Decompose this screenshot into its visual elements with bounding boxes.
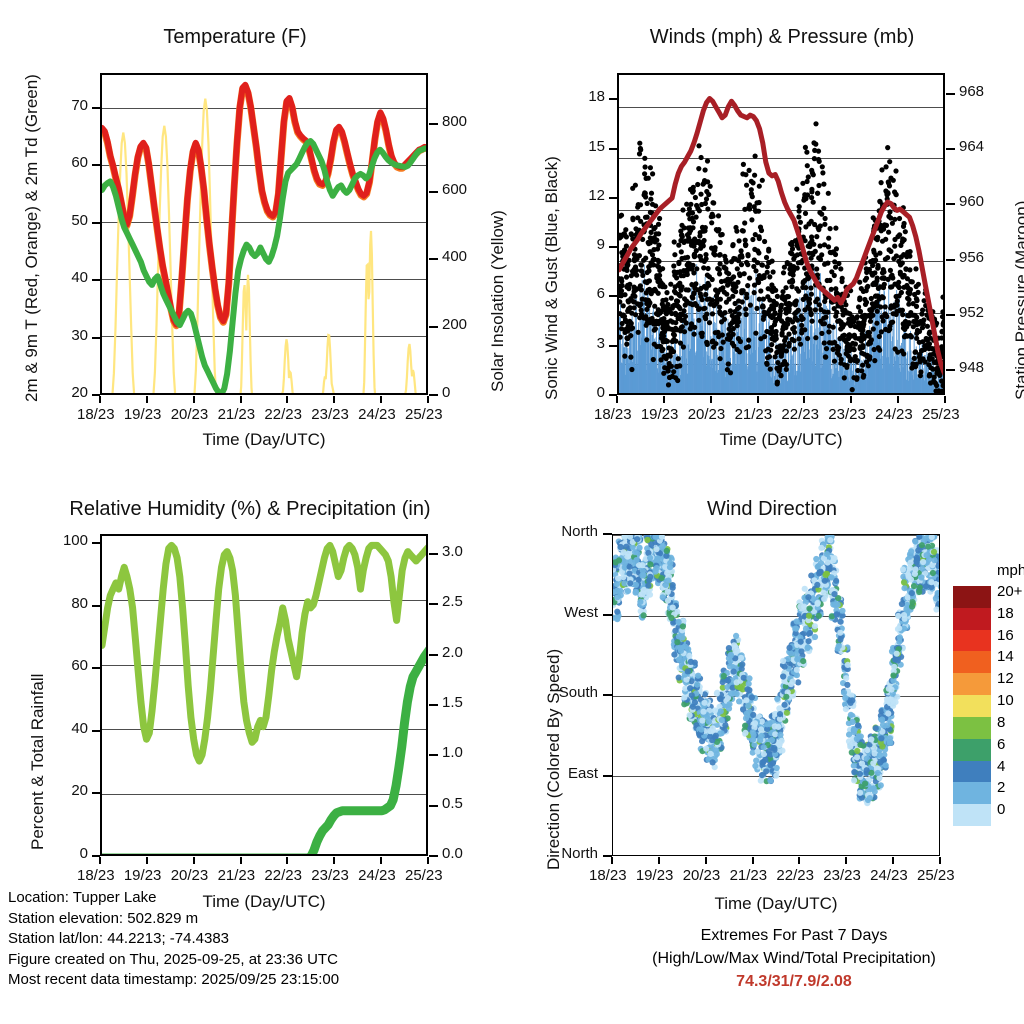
axis-tick-mark [944, 396, 946, 403]
axis-tick-mark [92, 222, 100, 224]
axis-tick-label: 19/23 [124, 406, 162, 423]
axis-tick-mark [99, 396, 101, 403]
axis-tick-mark [752, 857, 754, 864]
axis-tick-label: 20 [42, 384, 88, 401]
colorbar-tick-label: 0 [997, 801, 1005, 818]
axis-tick-label: 3.0 [442, 543, 463, 560]
axis-tick-mark [333, 857, 335, 864]
axis-tick-mark [710, 396, 712, 403]
axis-tick-label: South [552, 684, 598, 701]
axis-tick-label: North [552, 845, 598, 862]
axis-tick-label: 18/23 [77, 406, 115, 423]
axis-tick-mark [611, 857, 613, 864]
extremes-title: Extremes For Past 7 Days [594, 924, 994, 947]
axis-tick-mark [429, 805, 438, 807]
extremes-summary: Extremes For Past 7 Days (High/Low/Max W… [594, 924, 994, 993]
axis-tick-mark [380, 396, 382, 403]
axis-tick-mark [609, 98, 617, 100]
extremes-subtitle: (High/Low/Max Wind/Total Precipitation) [594, 947, 994, 970]
panel-wind-direction: Wind Direction Direction (Colored By Spe… [512, 470, 1024, 940]
panel-winds-pressure: Winds (mph) & Pressure (mb) Sonic Wind &… [512, 0, 1024, 470]
axis-tick-label: 9 [559, 236, 605, 253]
colorbar-band [953, 608, 991, 630]
axis-tick-label: 23/23 [828, 406, 866, 423]
axis-tick-mark [333, 396, 335, 403]
colorbar-unit-label: mph [997, 562, 1024, 579]
axis-tick-label: 0.5 [442, 795, 463, 812]
axis-tick-mark [427, 396, 429, 403]
axis-tick-label: 800 [442, 113, 467, 130]
axis-tick-label: 70 [42, 97, 88, 114]
wind-direction-scatter-svg [613, 535, 940, 856]
axis-tick-mark [616, 396, 618, 403]
axis-tick-mark [92, 667, 100, 669]
axis-tick-label: 18/23 [77, 867, 115, 884]
axis-tick-label: 80 [42, 595, 88, 612]
axis-tick-label: 19/23 [636, 867, 674, 884]
plot-area-wind-direction [612, 534, 940, 856]
axis-tick-label: North [552, 523, 598, 540]
axis-tick-label: 6 [559, 285, 605, 302]
axis-tick-label: 968 [959, 83, 984, 100]
axis-tick-label: 23/23 [311, 406, 349, 423]
axis-tick-label: 23/23 [823, 867, 861, 884]
axis-tick-label: 25/23 [405, 867, 443, 884]
axis-tick-label: 18/23 [594, 406, 632, 423]
axis-tick-label: 19/23 [641, 406, 679, 423]
axis-tick-mark [146, 857, 148, 864]
axis-tick-mark [609, 246, 617, 248]
axis-tick-label: 40 [42, 720, 88, 737]
axis-tick-label: 20/23 [171, 867, 209, 884]
axis-tick-mark [429, 326, 438, 328]
axis-tick-label: 21/23 [735, 406, 773, 423]
axis-tick-mark [92, 730, 100, 732]
axis-tick-label: 22/23 [776, 867, 814, 884]
axis-tick-mark [705, 857, 707, 864]
panel-title-wind-direction: Wind Direction [552, 498, 992, 521]
axis-tick-mark [92, 542, 100, 544]
footer-timestamp: Most recent data timestamp: 2025/09/25 2… [8, 970, 339, 991]
colorbar-tick-label: 20+ [997, 583, 1022, 600]
axis-tick-label: 200 [442, 316, 467, 333]
axis-tick-label: 25/23 [917, 867, 955, 884]
colorbar-band [953, 630, 991, 652]
colorbar-band [953, 717, 991, 739]
axis-tick-label: 20/23 [688, 406, 726, 423]
axis-tick-mark [603, 694, 612, 696]
axis-tick-label: 20/23 [683, 867, 721, 884]
axis-tick-mark [240, 396, 242, 403]
axis-tick-label: 960 [959, 193, 984, 210]
axis-tick-mark [798, 857, 800, 864]
axis-tick-mark [429, 704, 438, 706]
axis-label-percent-rainfall: Percent & Total Rainfall [28, 674, 48, 850]
axis-tick-label: 22/23 [264, 406, 302, 423]
winds-series-svg [619, 75, 945, 395]
humidity-series-svg [102, 536, 428, 856]
axis-tick-mark [946, 259, 955, 261]
temperature-series-svg [102, 75, 428, 395]
axis-tick-label: 60 [42, 657, 88, 674]
axis-tick-mark [429, 394, 438, 396]
panel-title-temperature: Temperature (F) [0, 26, 470, 49]
footer-location: Location: Tupper Lake [8, 888, 339, 909]
axis-tick-label: 24/23 [870, 867, 908, 884]
axis-tick-label: 23/23 [311, 867, 349, 884]
axis-tick-mark [429, 654, 438, 656]
axis-label-solar-insolation: Solar Insolation (Yellow) [488, 210, 508, 392]
axis-tick-mark [946, 203, 955, 205]
axis-tick-label: 956 [959, 249, 984, 266]
axis-label-time-direction: Time (Day/UTC) [612, 894, 940, 914]
axis-tick-label: 20 [42, 782, 88, 799]
axis-tick-label: 40 [42, 269, 88, 286]
axis-label-station-pressure: Station Pressure (Maroon) [1012, 201, 1024, 400]
axis-tick-label: 964 [959, 138, 984, 155]
axis-tick-mark [892, 857, 894, 864]
axis-tick-mark [92, 279, 100, 281]
axis-tick-label: 18 [559, 88, 605, 105]
axis-tick-mark [92, 107, 100, 109]
axis-tick-label: 19/23 [124, 867, 162, 884]
axis-tick-label: 21/23 [218, 406, 256, 423]
axis-tick-mark [429, 603, 438, 605]
axis-tick-label: 952 [959, 304, 984, 321]
axis-tick-label: 20/23 [171, 406, 209, 423]
footer-created: Figure created on Thu, 2025-09-25, at 23… [8, 950, 339, 971]
axis-tick-mark [609, 197, 617, 199]
colorbar-band [953, 761, 991, 783]
axis-tick-label: 21/23 [218, 867, 256, 884]
axis-tick-label: 0 [42, 845, 88, 862]
axis-tick-label: 22/23 [264, 867, 302, 884]
axis-tick-label: 2.5 [442, 593, 463, 610]
axis-tick-mark [286, 396, 288, 403]
axis-tick-mark [939, 857, 941, 864]
colorbar-band [953, 804, 991, 826]
axis-tick-label: 12 [559, 187, 605, 204]
wind-speed-colorbar: mph 20+181614121086420 [953, 586, 1024, 836]
axis-tick-mark [240, 857, 242, 864]
axis-tick-label: 24/23 [875, 406, 913, 423]
colorbar-tick-label: 4 [997, 758, 1005, 775]
axis-label-temperature-y: 2m & 9m T (Red, Orange) & 2m Td (Green) [22, 74, 42, 402]
axis-tick-label: 0 [559, 384, 605, 401]
axis-tick-mark [946, 314, 955, 316]
axis-tick-label: 3 [559, 335, 605, 352]
axis-tick-label: 60 [42, 154, 88, 171]
axis-tick-mark [658, 857, 660, 864]
axis-tick-mark [946, 93, 955, 95]
axis-tick-mark [193, 857, 195, 864]
colorbar-tick-label: 10 [997, 692, 1014, 709]
axis-tick-mark [429, 855, 438, 857]
axis-tick-mark [897, 396, 899, 403]
axis-tick-mark [946, 148, 955, 150]
axis-tick-mark [92, 792, 100, 794]
axis-tick-label: East [552, 765, 598, 782]
axis-tick-mark [757, 396, 759, 403]
axis-tick-label: 948 [959, 359, 984, 376]
axis-tick-label: West [552, 604, 598, 621]
axis-tick-label: 18/23 [589, 867, 627, 884]
axis-tick-label: 22/23 [781, 406, 819, 423]
axis-tick-mark [946, 369, 955, 371]
axis-tick-mark [380, 857, 382, 864]
axis-tick-label: 30 [42, 327, 88, 344]
plot-area-winds-pressure [617, 73, 945, 395]
axis-tick-label: 24/23 [358, 867, 396, 884]
axis-tick-mark [429, 123, 438, 125]
axis-label-time-winds: Time (Day/UTC) [617, 430, 945, 450]
plot-area-temperature [100, 73, 428, 395]
axis-tick-mark [850, 396, 852, 403]
colorbar-tick-label: 6 [997, 736, 1005, 753]
axis-tick-mark [609, 345, 617, 347]
axis-tick-mark [429, 191, 438, 193]
colorbar-band [953, 673, 991, 695]
axis-tick-mark [286, 857, 288, 864]
colorbar-band [953, 695, 991, 717]
axis-tick-mark [603, 614, 612, 616]
axis-tick-label: 50 [42, 212, 88, 229]
axis-tick-mark [663, 396, 665, 403]
axis-tick-mark [193, 396, 195, 403]
axis-tick-label: 24/23 [358, 406, 396, 423]
colorbar-band [953, 739, 991, 761]
colorbar-tick-label: 12 [997, 670, 1014, 687]
axis-label-direction: Direction (Colored By Speed) [544, 649, 564, 870]
axis-tick-label: 25/23 [922, 406, 960, 423]
axis-tick-mark [609, 295, 617, 297]
axis-tick-mark [429, 258, 438, 260]
axis-tick-mark [603, 775, 612, 777]
axis-tick-label: 100 [42, 532, 88, 549]
panel-title-winds-pressure: Winds (mph) & Pressure (mb) [572, 26, 992, 49]
colorbar-tick-label: 16 [997, 627, 1014, 644]
colorbar-band [953, 586, 991, 608]
axis-tick-label: 21/23 [730, 867, 768, 884]
footer-elevation: Station elevation: 502.829 m [8, 909, 339, 930]
colorbar-tick-label: 14 [997, 648, 1014, 665]
axis-tick-mark [609, 148, 617, 150]
axis-tick-label: 1.0 [442, 744, 463, 761]
axis-tick-mark [603, 533, 612, 535]
colorbar-tick-label: 18 [997, 605, 1014, 622]
axis-tick-mark [92, 337, 100, 339]
panel-humidity-precipitation: Relative Humidity (%) & Precipitation (i… [0, 470, 512, 940]
colorbar-tick-label: 8 [997, 714, 1005, 731]
axis-tick-label: 15 [559, 138, 605, 155]
axis-tick-label: 2.0 [442, 644, 463, 661]
colorbar-band [953, 782, 991, 804]
axis-tick-label: 0 [442, 384, 450, 401]
extremes-value: 74.3/31/7.9/2.08 [594, 970, 994, 993]
axis-tick-label: 0.0 [442, 845, 463, 862]
axis-tick-mark [427, 857, 429, 864]
footer-metadata: Location: Tupper Lake Station elevation:… [8, 888, 339, 991]
axis-tick-label: 25/23 [405, 406, 443, 423]
panel-temperature: Temperature (F) 2m & 9m T (Red, Orange) … [0, 0, 512, 470]
axis-tick-mark [146, 396, 148, 403]
axis-tick-label: 400 [442, 248, 467, 265]
axis-tick-mark [429, 754, 438, 756]
axis-tick-mark [429, 553, 438, 555]
colorbar-bands [953, 586, 991, 826]
axis-tick-mark [92, 605, 100, 607]
footer-latlon: Station lat/lon: 44.2213; -74.4383 [8, 929, 339, 950]
panel-title-humidity-precipitation: Relative Humidity (%) & Precipitation (i… [0, 498, 500, 521]
axis-tick-mark [92, 164, 100, 166]
axis-tick-mark [99, 857, 101, 864]
axis-label-time-temperature: Time (Day/UTC) [100, 430, 428, 450]
plot-area-humidity-precipitation [100, 534, 428, 856]
axis-tick-mark [803, 396, 805, 403]
colorbar-tick-label: 2 [997, 779, 1005, 796]
axis-tick-label: 600 [442, 181, 467, 198]
axis-tick-label: 1.5 [442, 694, 463, 711]
colorbar-band [953, 651, 991, 673]
axis-tick-mark [845, 857, 847, 864]
